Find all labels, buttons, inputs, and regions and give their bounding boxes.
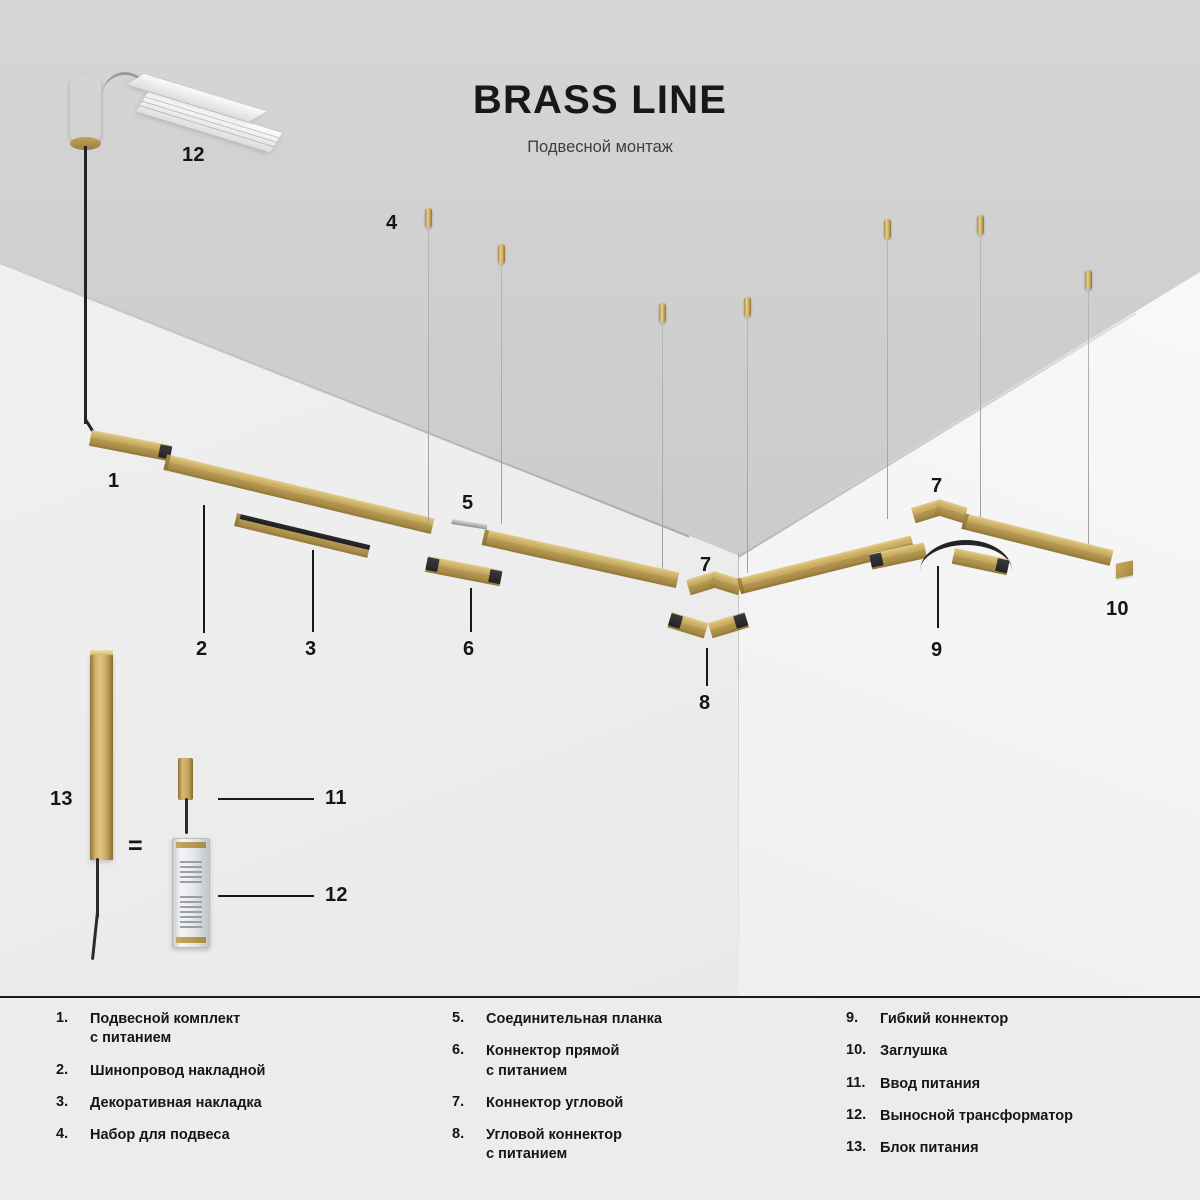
legend-item-label: Набор для подвеса [90, 1126, 230, 1145]
suspension-wire [662, 321, 663, 577]
legend-item-number: 2. [56, 1062, 90, 1078]
remote-transformer-psu [172, 838, 210, 948]
legend-item-label: Декоративная накладка [90, 1094, 262, 1113]
callout-12-top: 12 [182, 144, 205, 167]
brass-line-diagram-page: BRASS LINE Подвесной монтаж 12 1 [0, 0, 1200, 1200]
psu-vent [180, 901, 202, 903]
power-block-cable [96, 858, 99, 918]
legend-item: 4. Набор для подвеса [56, 1126, 416, 1145]
legend-item-label: Подвесной комплектс питанием [90, 1010, 240, 1049]
suspension-wire [428, 226, 429, 522]
callout-7a: 7 [700, 554, 711, 577]
leader-line-6 [470, 588, 472, 632]
legend-item-number: 9. [846, 1010, 880, 1026]
pendant-drop-cable [84, 146, 87, 424]
psu-vent [180, 926, 202, 928]
callout-5: 5 [462, 492, 473, 515]
suspension-wire [887, 237, 888, 519]
legend-item-number: 10. [846, 1042, 880, 1058]
legend-item-label: Шинопровод накладной [90, 1062, 265, 1081]
leader-line-9 [937, 566, 939, 628]
callout-4: 4 [386, 212, 397, 235]
legend-item-number: 11. [846, 1075, 880, 1091]
legend-column-3: 9. Гибкий коннектор 10. Заглушка 11. Вво… [846, 1010, 1186, 1171]
legend-item-label: Заглушка [880, 1042, 947, 1061]
callout-9: 9 [931, 639, 942, 662]
connector-end-block [488, 569, 502, 584]
psu-vent [180, 876, 202, 878]
legend-item-number: 4. [56, 1126, 90, 1142]
legend-item-number: 8. [452, 1126, 486, 1142]
psu-vent [180, 921, 202, 923]
power-input-cable [185, 798, 188, 834]
legend-item-number: 7. [452, 1094, 486, 1110]
suspension-wire [501, 262, 502, 524]
legend-item: 10. Заглушка [846, 1042, 1186, 1061]
legend-item-number: 1. [56, 1010, 90, 1026]
legend-item-number: 13. [846, 1139, 880, 1155]
legend-item: 8. Угловой коннекторс питанием [452, 1126, 812, 1165]
leader-line-11 [218, 798, 314, 800]
callout-8: 8 [699, 692, 710, 715]
suspension-wire [980, 233, 981, 525]
power-block-body [90, 655, 113, 860]
suspension-anchor [744, 297, 751, 317]
suspension-anchor [884, 219, 891, 239]
suspension-anchor [977, 215, 984, 235]
psu-vent [180, 906, 202, 908]
room-scene: BRASS LINE Подвесной монтаж 12 1 [0, 0, 1200, 996]
suspension-wire [1088, 288, 1089, 556]
legend-item: 12. Выносной трансформатор [846, 1107, 1186, 1126]
leader-line-3 [312, 550, 314, 632]
legend-item: 5. Соединительная планка [452, 1010, 812, 1029]
legend-item-label: Коннектор прямойс питанием [486, 1042, 619, 1081]
legend-item-number: 12. [846, 1107, 880, 1123]
psu-vent [180, 871, 202, 873]
legend-item-number: 5. [452, 1010, 486, 1026]
legend-item-label: Выносной трансформатор [880, 1107, 1073, 1126]
equals-sign: = [128, 832, 143, 861]
psu-vent [180, 916, 202, 918]
legend-item: 3. Декоративная накладка [56, 1094, 416, 1113]
callout-1: 1 [108, 470, 119, 493]
suspension-anchor [425, 208, 432, 228]
callout-3: 3 [305, 638, 316, 661]
legend-item-number: 6. [452, 1042, 486, 1058]
suspension-anchor [498, 244, 505, 264]
legend-item: 11. Ввод питания [846, 1075, 1186, 1094]
legend-item: 1. Подвесной комплектс питанием [56, 1010, 416, 1049]
legend-column-1: 1. Подвесной комплектс питанием 2. Шиноп… [56, 1010, 416, 1158]
callout-13: 13 [50, 788, 73, 811]
leader-line-12 [218, 895, 314, 897]
legend-item-label: Гибкий коннектор [880, 1010, 1008, 1029]
legend-item-label: Соединительная планка [486, 1010, 662, 1029]
legend-item: 6. Коннектор прямойс питанием [452, 1042, 812, 1081]
legend-item: 13. Блок питания [846, 1139, 1186, 1158]
legend-item: 7. Коннектор угловой [452, 1094, 812, 1113]
legend-item: 9. Гибкий коннектор [846, 1010, 1186, 1029]
psu-terminal-block [176, 842, 206, 848]
legend-item-label: Угловой коннекторс питанием [486, 1126, 622, 1165]
legend-panel: 1. Подвесной комплектс питанием 2. Шиноп… [0, 996, 1200, 1200]
legend-item-number: 3. [56, 1094, 90, 1110]
psu-terminal-block [176, 937, 206, 943]
legend-item-label: Коннектор угловой [486, 1094, 623, 1113]
legend-item: 2. Шинопровод накладной [56, 1062, 416, 1081]
legend-item-label: Ввод питания [880, 1075, 980, 1094]
callout-2: 2 [196, 638, 207, 661]
power-input-module [178, 758, 193, 800]
suspension-anchor [659, 303, 666, 323]
legend-separator-rule [0, 996, 1200, 998]
psu-vent [180, 881, 202, 883]
callout-11: 11 [325, 787, 347, 810]
leader-line-8 [706, 648, 708, 686]
callout-10: 10 [1106, 598, 1129, 621]
psu-vent [180, 896, 202, 898]
callout-12-bottom: 12 [325, 884, 348, 907]
psu-vent [180, 866, 202, 868]
legend-item-label: Блок питания [880, 1139, 979, 1158]
legend-column-2: 5. Соединительная планка 6. Коннектор пр… [452, 1010, 812, 1178]
suspension-anchor [1085, 270, 1092, 290]
connector-end-block [869, 552, 883, 567]
leader-line-2 [203, 505, 205, 633]
transformer-cylinder [70, 74, 101, 144]
psu-vent [180, 861, 202, 863]
psu-vent [180, 911, 202, 913]
suspension-wire [747, 315, 748, 573]
callout-6: 6 [463, 638, 474, 661]
connector-end-block [425, 557, 439, 572]
page-subtitle: Подвесной монтаж [0, 138, 1200, 157]
callout-7b: 7 [931, 475, 942, 498]
